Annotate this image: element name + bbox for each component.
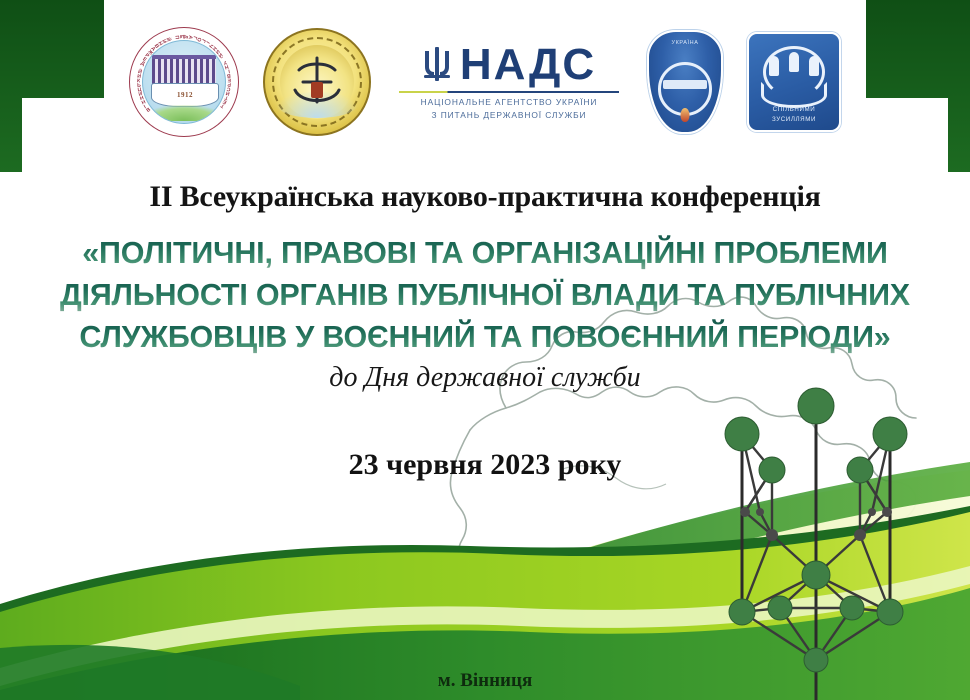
anchor-icon	[289, 52, 345, 114]
nads-wordmark: НАДС	[460, 43, 596, 87]
title-line-1: «ПОЛІТИЧНІ, ПРАВОВІ ТА ОРГАНІЗАЦІЙНІ ПРО…	[0, 232, 970, 274]
nads-subtitle-line2: З ПИТАНЬ ДЕРЖАВНОЇ СЛУЖБИ	[432, 109, 587, 121]
title-line-3: СЛУЖБОВЦІВ У ВОЄННИЙ ТА ПОВОЄННИЙ ПЕРІОД…	[0, 316, 970, 358]
hands-icon	[761, 82, 827, 108]
poster-city: м. Вінниця	[0, 670, 970, 692]
conference-poster: 1912 ВІННИЦЬКИЙ ДЕРЖАВНИЙ ПЕДАГОГІЧНИЙ У…	[0, 0, 970, 700]
shield-top-text: УКРАЇНА	[649, 40, 721, 46]
logo-strip: 1912 ВІННИЦЬКИЙ ДЕРЖАВНИЙ ПЕДАГОГІЧНИЙ У…	[0, 22, 970, 142]
nads-rule	[399, 91, 619, 93]
gold-seal-logo	[263, 28, 371, 136]
tryzub-icon	[422, 43, 452, 87]
university-seal-logo: 1912 ВІННИЦЬКИЙ ДЕРЖАВНИЙ ПЕДАГОГІЧНИЙ У…	[129, 27, 239, 137]
flame-icon	[681, 108, 690, 122]
badge-caption-line2: ЗУСИЛЛЯМИ	[749, 115, 839, 124]
seal-ring-text: ВІННИЦЬКИЙ ДЕРЖАВНИЙ ПЕДАГОГІЧНИЙ УНІВЕР…	[129, 27, 239, 137]
badge-caption-line1: СПІЛЬНИМИ	[749, 105, 839, 114]
title-line-2: ДІЯЛЬНОСТІ ОРГАНІВ ПУБЛІЧНОЇ ВЛАДИ ТА ПУ…	[0, 274, 970, 316]
blue-shield-logo: УКРАЇНА	[647, 30, 723, 134]
conference-line: ІІ Всеукраїнська науково-практична конфе…	[0, 180, 970, 214]
poster-date: 23 червня 2023 року	[0, 448, 970, 482]
blue-badge-logo: СПІЛЬНИМИ ЗУСИЛЛЯМИ	[747, 32, 841, 132]
poster-title: «ПОЛІТИЧНІ, ПРАВОВІ ТА ОРГАНІЗАЦІЙНІ ПРО…	[0, 232, 970, 358]
nads-subtitle-line1: НАЦІОНАЛЬНЕ АГЕНТСТВО УКРАЇНИ	[421, 96, 598, 108]
nads-logo: НАДС НАЦІОНАЛЬНЕ АГЕНТСТВО УКРАЇНИ З ПИТ…	[395, 43, 623, 120]
poster-subtitle: до Дня державної служби	[0, 362, 970, 394]
